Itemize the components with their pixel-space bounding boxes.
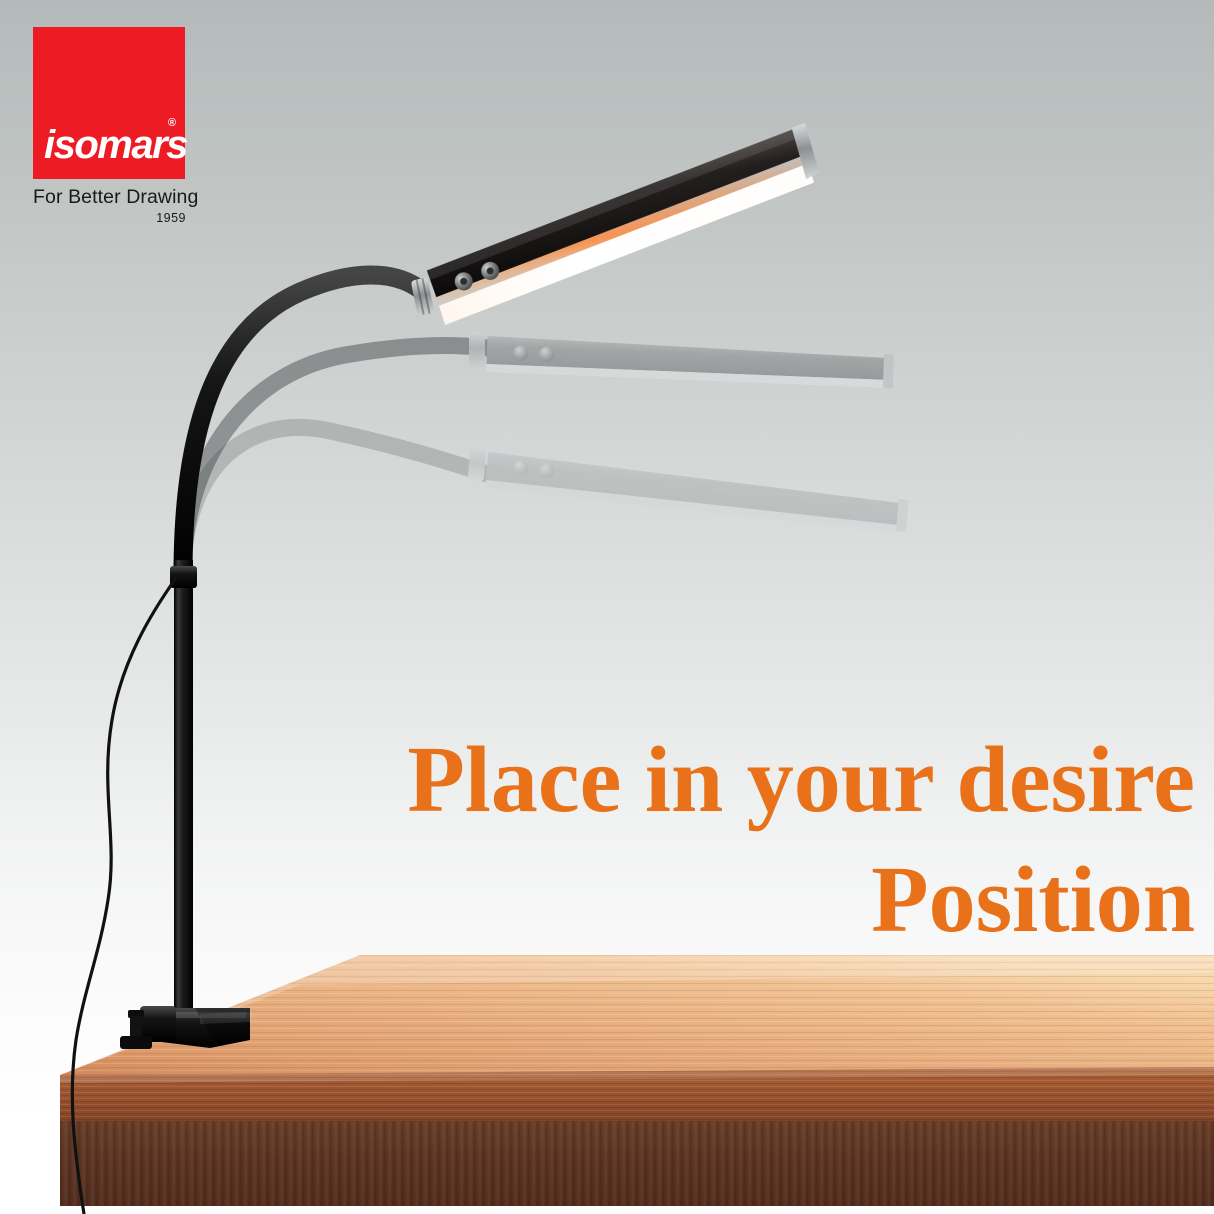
led-warm-glow [423, 155, 821, 306]
led-light-strip [426, 163, 827, 325]
head-pivot-collar [411, 277, 435, 316]
table-clamp[interactable] [120, 1006, 252, 1049]
registered-trademark-icon: ® [168, 118, 176, 129]
logo-red-square: isomars ® [33, 27, 185, 179]
advertisement-canvas: isomars ® For Better Drawing 1959 Place … [0, 0, 1214, 1214]
headline-line-2: Position [0, 840, 1195, 960]
lamp-head[interactable] [413, 122, 834, 326]
logo-tagline: For Better Drawing [33, 186, 189, 209]
headline-line-1: Place in your desire [0, 720, 1195, 840]
post-collar [170, 566, 197, 588]
logo-founding-year: 1959 [33, 211, 189, 225]
lamp-ghost-position-3 [183, 427, 910, 575]
logo-wordmark: isomars [44, 125, 187, 165]
lamp-ghost-position-2 [183, 332, 894, 575]
clamp-screw-knob[interactable] [120, 1036, 152, 1049]
headline: Place in your desire Position [0, 720, 1195, 961]
brand-logo: isomars ® For Better Drawing 1959 [33, 27, 189, 225]
